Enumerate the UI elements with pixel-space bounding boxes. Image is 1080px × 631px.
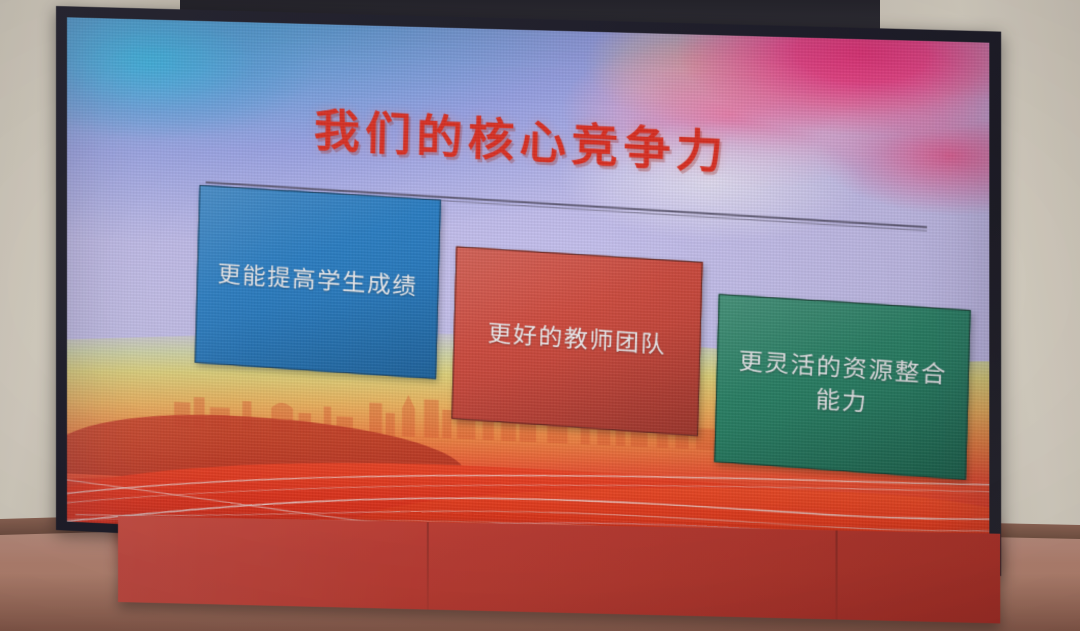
slide-content: 我们的核心竞争力 更能提高学生成绩 更好的教师团队 更灵活的资源 bbox=[67, 17, 989, 566]
slide-title: 我们的核心竞争力 bbox=[67, 80, 989, 197]
card-red-label: 更好的教师团队 bbox=[477, 317, 677, 363]
conference-hall-scene: 我们的核心竞争力 更能提高学生成绩 更好的教师团队 更灵活的资源 bbox=[0, 0, 1080, 631]
screen-surface: 我们的核心竞争力 更能提高学生成绩 更好的教师团队 更灵活的资源 bbox=[67, 17, 989, 566]
stage-seam-2 bbox=[836, 530, 838, 619]
led-video-wall: 我们的核心竞争力 更能提高学生成绩 更好的教师团队 更灵活的资源 bbox=[56, 6, 1001, 576]
stage-seam-1 bbox=[427, 522, 429, 609]
screen-bezel: 我们的核心竞争力 更能提高学生成绩 更好的教师团队 更灵活的资源 bbox=[56, 6, 1001, 576]
card-blue: 更能提高学生成绩 bbox=[195, 185, 441, 379]
card-red: 更好的教师团队 bbox=[452, 246, 703, 435]
card-green-label: 更灵活的资源整合能力 bbox=[717, 345, 968, 427]
card-blue-label: 更能提高学生成绩 bbox=[207, 258, 428, 304]
competitive-advantage-cards: 更能提高学生成绩 更好的教师团队 更灵活的资源整合能力 bbox=[194, 204, 972, 430]
card-green: 更灵活的资源整合能力 bbox=[715, 293, 971, 480]
